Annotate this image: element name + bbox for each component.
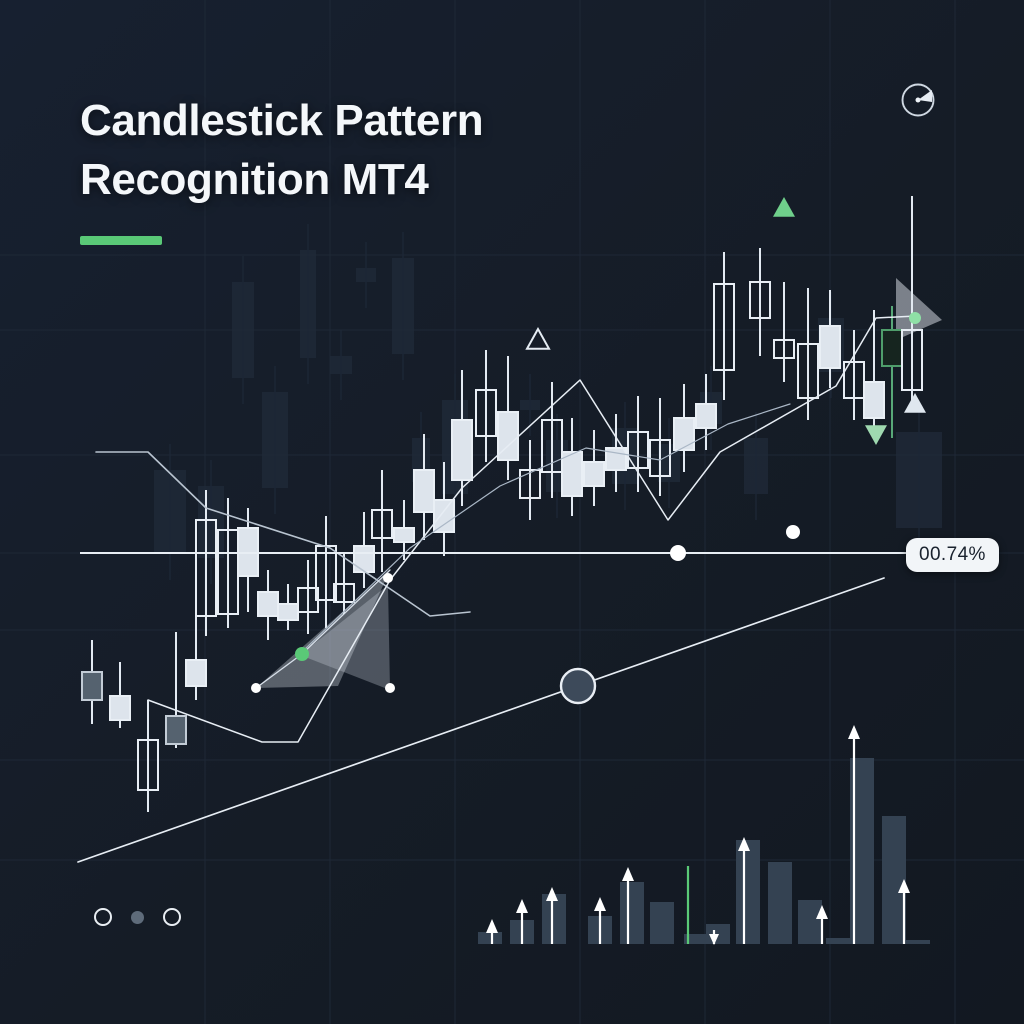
volume-bar bbox=[620, 882, 644, 944]
candle-body bbox=[452, 420, 472, 480]
volume-bar bbox=[650, 902, 674, 944]
carousel-dot-1[interactable] bbox=[94, 908, 112, 926]
volume-bar bbox=[478, 932, 502, 944]
carousel-dot-3[interactable] bbox=[163, 908, 181, 926]
volume-bar bbox=[906, 940, 930, 944]
volume-bar bbox=[882, 816, 906, 944]
candle-body bbox=[394, 528, 414, 542]
trend-node bbox=[383, 573, 393, 583]
price-badge[interactable]: 00.74% bbox=[906, 538, 999, 572]
volume-bar bbox=[826, 938, 850, 944]
candle-body bbox=[584, 462, 604, 486]
candle-body bbox=[696, 404, 716, 428]
candle-body bbox=[110, 696, 130, 720]
candle-body bbox=[674, 418, 694, 450]
candle-body bbox=[166, 716, 186, 744]
candle-body bbox=[562, 452, 582, 496]
candle-body bbox=[278, 604, 298, 620]
volume-bar bbox=[542, 894, 566, 944]
candle-body bbox=[864, 382, 884, 418]
candle-body bbox=[258, 592, 278, 616]
candle-body bbox=[82, 672, 102, 700]
volume-bar bbox=[768, 862, 792, 944]
refresh-gauge-icon[interactable] bbox=[896, 78, 940, 122]
trend-node bbox=[786, 525, 800, 539]
trend-node bbox=[561, 669, 595, 703]
promo-chart-canvas: Candlestick Pattern Recognition MT4 00.7… bbox=[0, 0, 1024, 1024]
candle-body bbox=[354, 546, 374, 572]
trend-node bbox=[385, 683, 395, 693]
candlestick-chart bbox=[0, 0, 1024, 1024]
trend-node bbox=[670, 545, 686, 561]
candle-body bbox=[820, 326, 840, 368]
candle-body bbox=[882, 330, 902, 366]
carousel-dots[interactable] bbox=[94, 908, 181, 926]
trend-node bbox=[251, 683, 261, 693]
candle-body bbox=[414, 470, 434, 512]
candle-body bbox=[434, 500, 454, 532]
pattern-node bbox=[296, 648, 308, 660]
volume-bar bbox=[798, 900, 822, 944]
carousel-dot-2[interactable] bbox=[131, 911, 144, 924]
volume-bar bbox=[736, 840, 760, 944]
pattern-node bbox=[909, 312, 921, 324]
candle-body bbox=[186, 660, 206, 686]
